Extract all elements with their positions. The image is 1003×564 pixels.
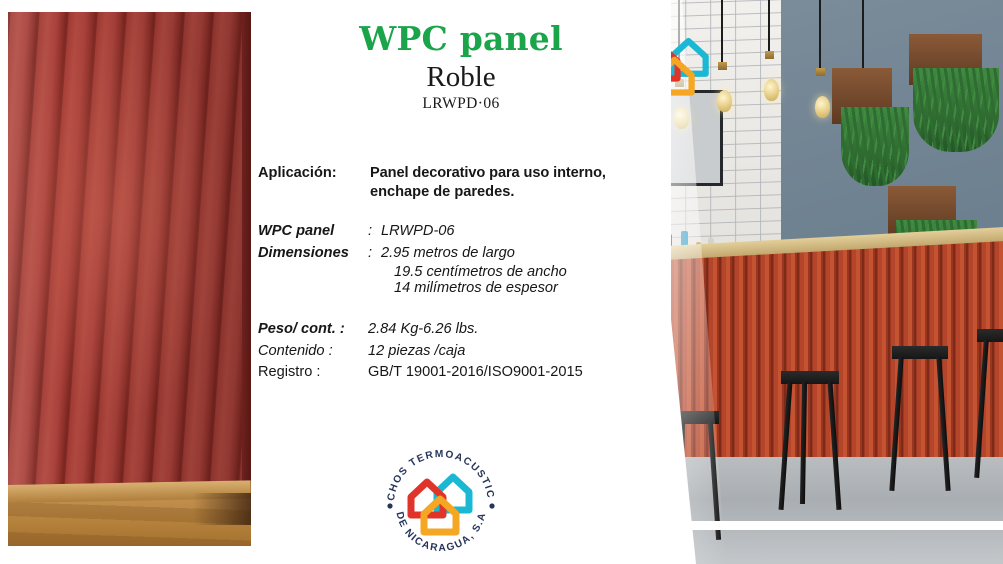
- peso-value: 2.84 Kg-6.26 lbs.: [368, 319, 478, 340]
- stool-leg: [800, 382, 807, 504]
- dimensiones-value-length: 2.95 metros de largo: [381, 243, 515, 264]
- contenido-label: Contenido :: [258, 341, 368, 362]
- pendant-cord: [819, 0, 821, 68]
- spec-row-peso: Peso/ cont. : 2.84 Kg-6.26 lbs.: [258, 319, 671, 340]
- pendant-cap: [718, 62, 727, 70]
- stool-leg: [778, 382, 792, 510]
- page-title: WPC panel: [251, 22, 671, 57]
- panel-right-edge: [242, 12, 251, 514]
- packaging-block: Peso/ cont. : 2.84 Kg-6.26 lbs. Contenid…: [258, 319, 671, 383]
- application-label: Aplicación:: [258, 163, 370, 184]
- seal-dot-right: [489, 503, 494, 508]
- dimensiones-value-width: 19.5 centímetros de ancho: [394, 264, 671, 280]
- bar-stool: [977, 329, 1003, 485]
- pendant-bulb: [815, 96, 830, 118]
- hanging-plant: [913, 68, 998, 153]
- wpc-panel-value: LRWPD-06: [381, 221, 455, 242]
- wpc-panel-colon: :: [368, 221, 381, 242]
- contenido-value: 12 piezas /caja: [368, 341, 465, 362]
- dimensiones-value-thickness: 14 milímetros de espesor: [394, 280, 671, 296]
- dimensiones-colon: :: [368, 243, 381, 264]
- seal-dot-left: [387, 503, 392, 508]
- spec-row-dimensiones: Dimensiones : 2.95 metros de largo: [258, 243, 671, 264]
- stool-leg: [975, 340, 990, 478]
- product-name: Roble: [251, 61, 671, 94]
- dimensiones-label: Dimensiones: [258, 243, 368, 264]
- product-code: LRWPD·06: [251, 95, 671, 113]
- pendant-cord: [768, 0, 770, 51]
- spec-row-wpc-panel: WPC panel : LRWPD-06: [258, 221, 671, 242]
- application-value-line2: enchape de paredes.: [370, 184, 671, 200]
- seal-houses: [411, 477, 469, 532]
- pendant-bulb: [717, 90, 732, 112]
- pendant-bulb: [764, 79, 779, 101]
- pendant-cap: [816, 68, 825, 76]
- peso-label: Peso/ cont. :: [258, 319, 368, 340]
- hanging-plant: [841, 107, 909, 186]
- product-spec-sheet: WPC panel Roble LRWPD·06 Aplicación: Pan…: [0, 0, 1003, 564]
- spec-row-registro: Registro : GB/T 19001-2016/ISO9001-2015: [258, 362, 671, 383]
- floor-shadow: [193, 493, 251, 525]
- bar-stool: [892, 346, 948, 496]
- product-dimensions-block: WPC panel : LRWPD-06 Dimensiones : 2.95 …: [258, 221, 671, 296]
- application-value-line1: Panel decorativo para uso interno,: [370, 163, 606, 184]
- company-seal-icon: TECHOS TERMOACUSTICOS DE NICARAGUA, S.A: [381, 444, 501, 564]
- pendant-cord: [721, 0, 723, 62]
- product-photo-panel-wall: [8, 12, 251, 546]
- application-block: Aplicación: Panel decorativo para uso in…: [258, 163, 671, 200]
- spec-row-contenido: Contenido : 12 piezas /caja: [258, 341, 671, 362]
- registro-value: GB/T 19001-2016/ISO9001-2015: [368, 362, 583, 383]
- bar-stool: [781, 371, 839, 513]
- application-row: Aplicación: Panel decorativo para uso in…: [258, 163, 671, 184]
- company-seal: TECHOS TERMOACUSTICOS DE NICARAGUA, S.A: [381, 444, 501, 564]
- title-block: WPC panel Roble LRWPD·06: [251, 22, 671, 113]
- stool-leg: [889, 357, 903, 491]
- stool-seat: [977, 329, 1003, 342]
- specifications: Aplicación: Panel decorativo para uso in…: [258, 163, 671, 384]
- registro-label: Registro :: [258, 362, 368, 383]
- wall-sheen-overlay: [8, 12, 251, 546]
- pendant-cap: [765, 51, 774, 59]
- wpc-panel-label: WPC panel: [258, 221, 368, 242]
